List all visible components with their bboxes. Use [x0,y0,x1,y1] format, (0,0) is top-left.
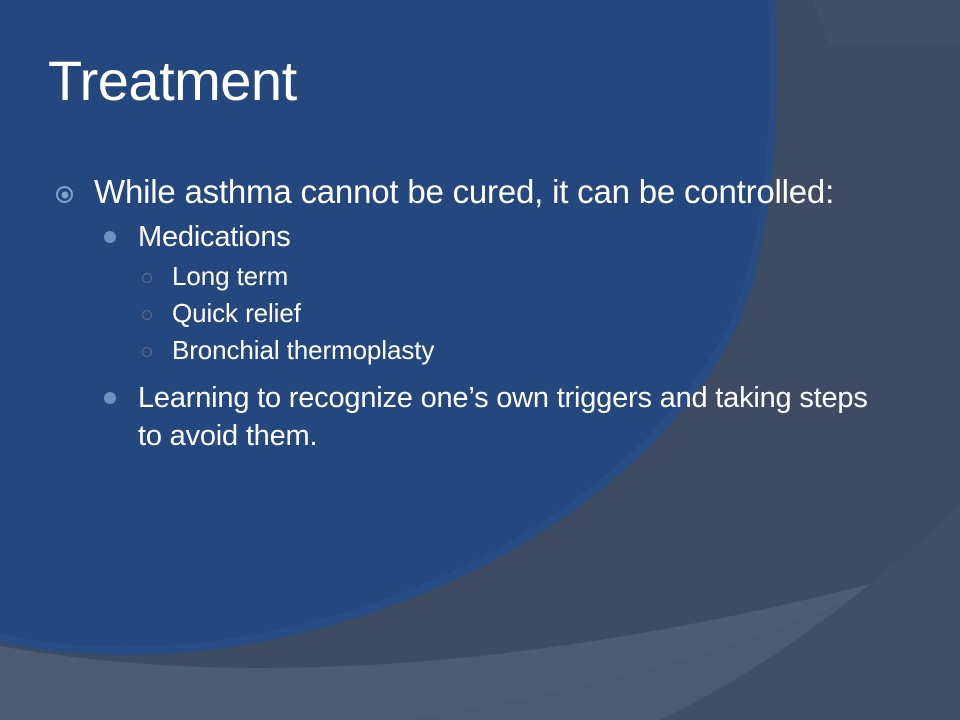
list-item[interactable]: Medications [104,219,886,256]
list-item[interactable]: Learning to recognize one’s own triggers… [104,380,886,454]
bullet-dot-icon [104,219,138,243]
bullet-hollow-circle-icon [142,297,172,320]
slide-content: Treatment While asthma cannot be cured, … [0,0,960,720]
bullet-hollow-circle-icon [142,334,172,357]
presentation-slide: Treatment While asthma cannot be cured, … [0,0,960,720]
list-item-label: While asthma cannot be cured, it can be … [94,172,886,213]
list-item-label: Learning to recognize one’s own triggers… [138,380,886,454]
list-item-label: Bronchial thermoplasty [172,334,886,368]
list-item-label: Medications [138,219,886,256]
list-item[interactable]: Quick relief [142,297,886,331]
bullet-list: While asthma cannot be cured, it can be … [56,172,886,459]
list-item[interactable]: Bronchial thermoplasty [142,334,886,368]
bullet-hollow-circle-icon [142,260,172,283]
spacer [56,370,886,380]
list-item-label: Quick relief [172,297,886,331]
page-title: Treatment [48,52,297,111]
list-item[interactable]: Long term [142,260,886,294]
bullet-ring-dot-icon [56,172,94,203]
list-item-label: Long term [172,260,886,294]
bullet-dot-icon [104,380,138,404]
list-item[interactable]: While asthma cannot be cured, it can be … [56,172,886,213]
